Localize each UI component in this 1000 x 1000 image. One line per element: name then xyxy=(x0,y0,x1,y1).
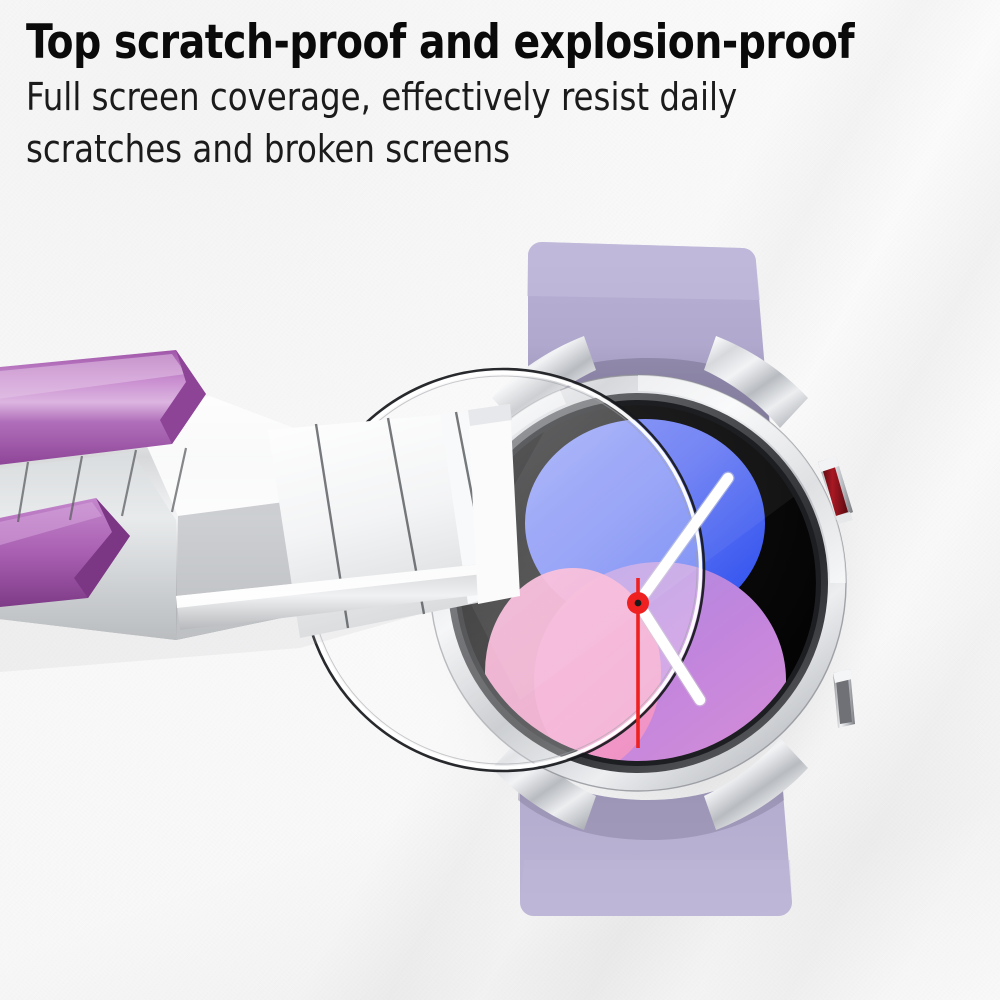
product-marketing-image: Top scratch-proof and explosion-proof Fu… xyxy=(0,0,1000,1000)
subtitle-line-1: Full screen coverage, effectively resist… xyxy=(26,71,951,125)
marketing-copy: Top scratch-proof and explosion-proof Fu… xyxy=(0,0,1000,183)
subtitle-line-2: scratches and broken screens xyxy=(26,123,951,177)
headline: Top scratch-proof and explosion-proof xyxy=(26,18,932,67)
